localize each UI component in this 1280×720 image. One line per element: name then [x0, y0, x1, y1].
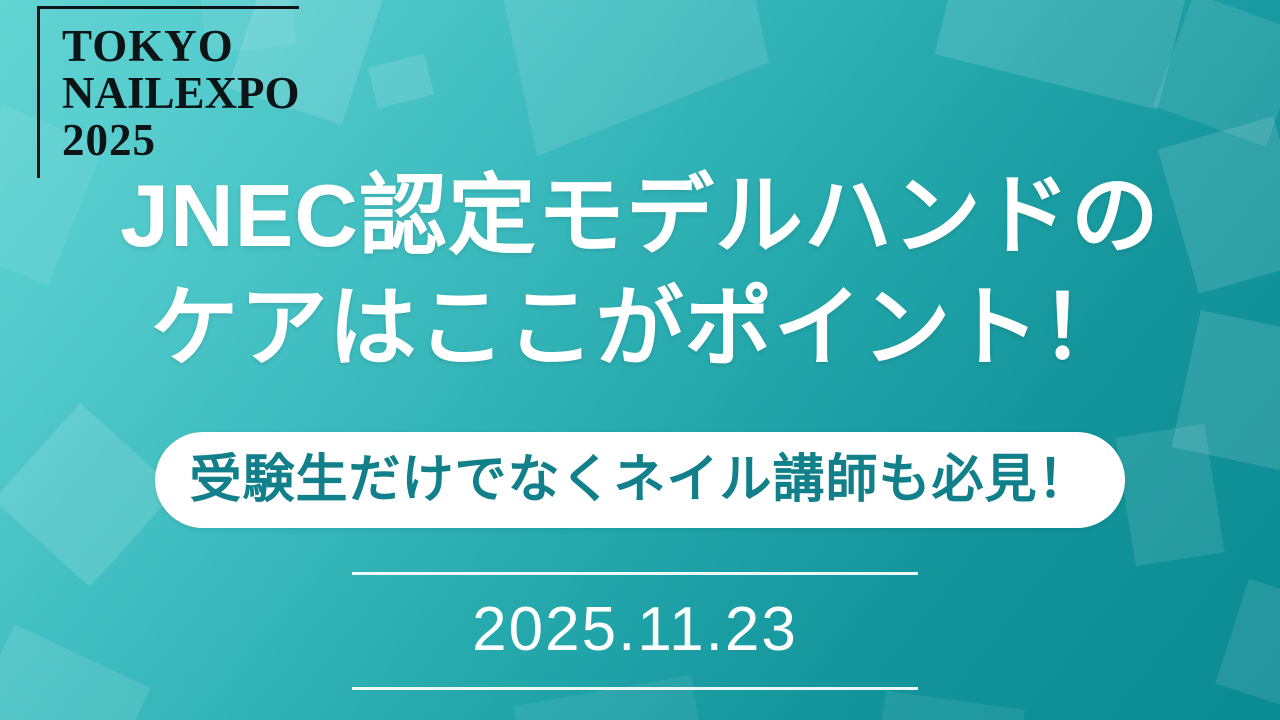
headline: JNEC認定モデルハンドの ケアはここがポイント！ — [0, 160, 1280, 384]
event-logo-line3: 2025 — [62, 115, 156, 165]
decorative-shape-13 — [875, 691, 1025, 720]
promo-banner: TOKYO NAILEXPO 2025 JNEC認定モデルハンドの ケアはここが… — [0, 0, 1280, 720]
headline-line-2: ケアはここがポイント！ — [0, 272, 1280, 384]
event-date: 2025.11.23 — [352, 592, 918, 668]
date-block: 2025.11.23 — [352, 570, 918, 692]
date-rule-top — [352, 572, 918, 575]
decorative-shape-5 — [1153, 0, 1280, 147]
decorative-shape-3 — [501, 0, 769, 156]
date-rule-bottom — [352, 687, 918, 690]
headline-line-1: JNEC認定モデルハンドの — [0, 160, 1280, 272]
event-logo: TOKYO NAILEXPO 2025 — [37, 6, 299, 178]
decorative-shape-2 — [368, 54, 434, 109]
event-logo-line2: NAILEXPO — [62, 68, 300, 118]
event-logo-line1: TOKYO — [62, 21, 234, 71]
decorative-shape-8 — [1115, 424, 1224, 566]
decorative-shape-14 — [1215, 579, 1280, 711]
decorative-shape-4 — [934, 0, 1191, 110]
decorative-shape-11 — [0, 624, 150, 720]
decorative-shape-10 — [0, 403, 177, 587]
subtitle-badge: 受験生だけでなくネイル講師も必見！ — [155, 432, 1125, 528]
subtitle-badge-label: 受験生だけでなくネイル講師も必見！ — [189, 454, 1090, 506]
event-logo-text: TOKYO NAILEXPO 2025 — [62, 23, 300, 164]
